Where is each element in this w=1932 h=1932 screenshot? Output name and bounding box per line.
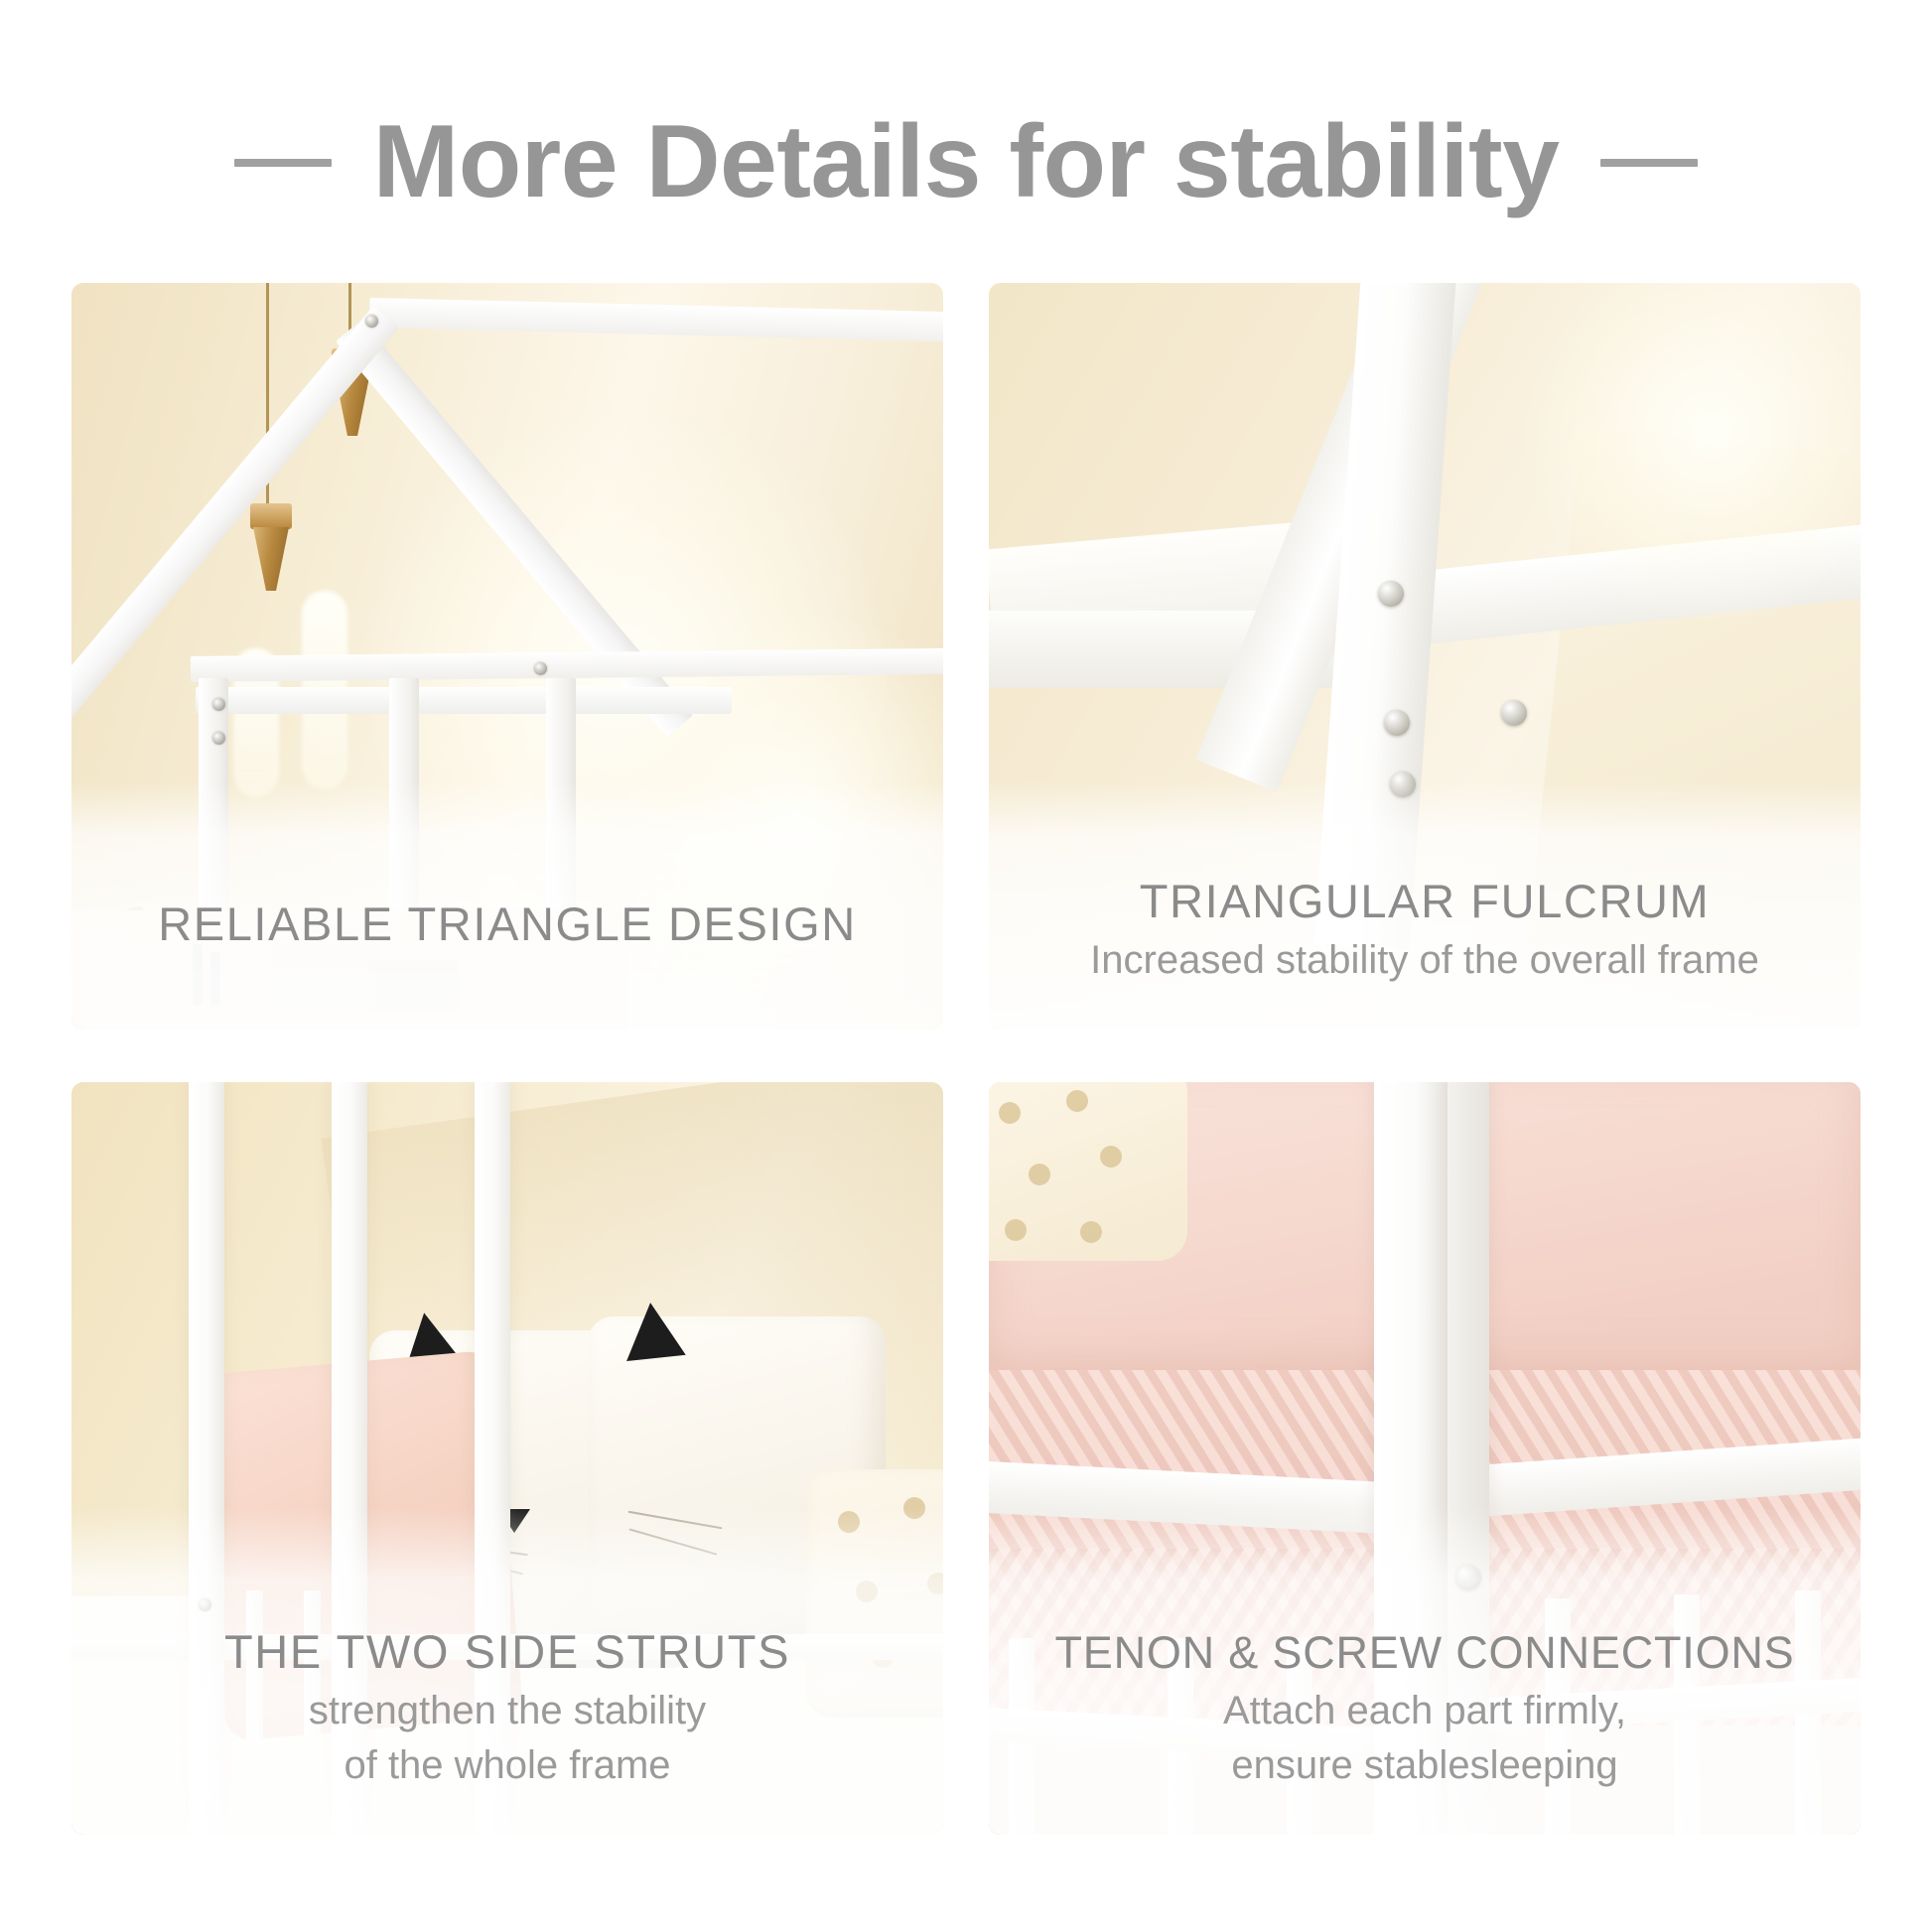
- panel-heading: TENON & SCREW CONNECTIONS: [1054, 1623, 1794, 1683]
- panel-heading: RELIABLE TRIANGLE DESIGN: [158, 894, 857, 956]
- caption-overlay: RELIABLE TRIANGLE DESIGN: [71, 781, 943, 1030]
- infographic-page: More Details for stability: [0, 0, 1932, 1932]
- caption-overlay: TENON & SCREW CONNECTIONS Attach each pa…: [989, 1507, 1861, 1835]
- panel-subtitle-line1: Attach each part firmly,: [1223, 1684, 1626, 1738]
- panel-subtitle-line2: ensure stablesleeping: [1231, 1738, 1617, 1793]
- panel-subtitle-line2: of the whole frame: [344, 1738, 670, 1793]
- panel-heading: THE TWO SIDE STRUTS: [224, 1621, 790, 1684]
- caption-overlay: THE TWO SIDE STRUTS strengthen the stabi…: [71, 1507, 943, 1835]
- title-dash-left-icon: [234, 159, 332, 167]
- page-title: More Details for stability: [373, 108, 1560, 216]
- feature-grid: RELIABLE TRIANGLE DESIGN TRIANGULAR FUL: [71, 283, 1861, 1835]
- panel-subtitle: Increased stability of the overall frame: [1090, 933, 1759, 988]
- feature-panel-reliable-triangle-design: RELIABLE TRIANGLE DESIGN: [71, 283, 943, 1030]
- page-title-row: More Details for stability: [0, 95, 1932, 230]
- feature-panel-triangular-fulcrum: TRIANGULAR FULCRUM Increased stability o…: [989, 283, 1861, 1030]
- panel-subtitle-line1: strengthen the stability: [309, 1684, 706, 1738]
- feature-panel-tenon-screw-connections: TENON & SCREW CONNECTIONS Attach each pa…: [989, 1082, 1861, 1835]
- feature-panel-two-side-struts: THE TWO SIDE STRUTS strengthen the stabi…: [71, 1082, 943, 1835]
- panel-heading: TRIANGULAR FULCRUM: [1140, 871, 1711, 933]
- caption-overlay: TRIANGULAR FULCRUM Increased stability o…: [989, 781, 1861, 1030]
- title-dash-right-icon: [1600, 159, 1698, 167]
